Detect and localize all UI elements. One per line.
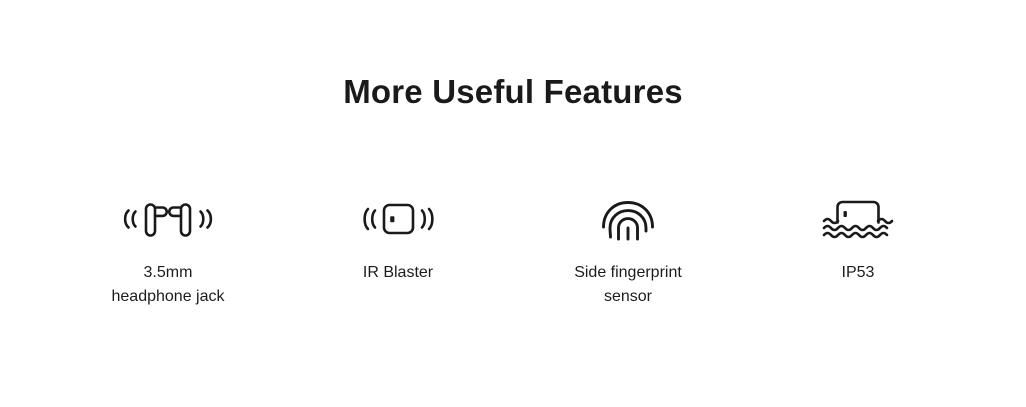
feature-list: 3.5mm headphone jack IR Blaster bbox=[63, 190, 963, 309]
feature-label: IR Blaster bbox=[363, 261, 433, 285]
page-title: More Useful Features bbox=[0, 72, 1026, 112]
feature-label: Side fingerprint sensor bbox=[574, 261, 682, 309]
feature-label: 3.5mm headphone jack bbox=[112, 261, 225, 309]
ir-blaster-icon bbox=[352, 190, 444, 248]
earbuds-waves-icon bbox=[114, 190, 222, 248]
feature-item: IP53 bbox=[753, 190, 963, 285]
fingerprint-icon bbox=[600, 190, 656, 248]
feature-item: 3.5mm headphone jack bbox=[63, 190, 273, 309]
feature-item: Side fingerprint sensor bbox=[523, 190, 733, 309]
water-resistant-phone-icon bbox=[820, 190, 896, 248]
feature-item: IR Blaster bbox=[293, 190, 503, 285]
more-useful-features-section: More Useful Features bbox=[0, 0, 1026, 407]
feature-label: IP53 bbox=[842, 261, 875, 285]
